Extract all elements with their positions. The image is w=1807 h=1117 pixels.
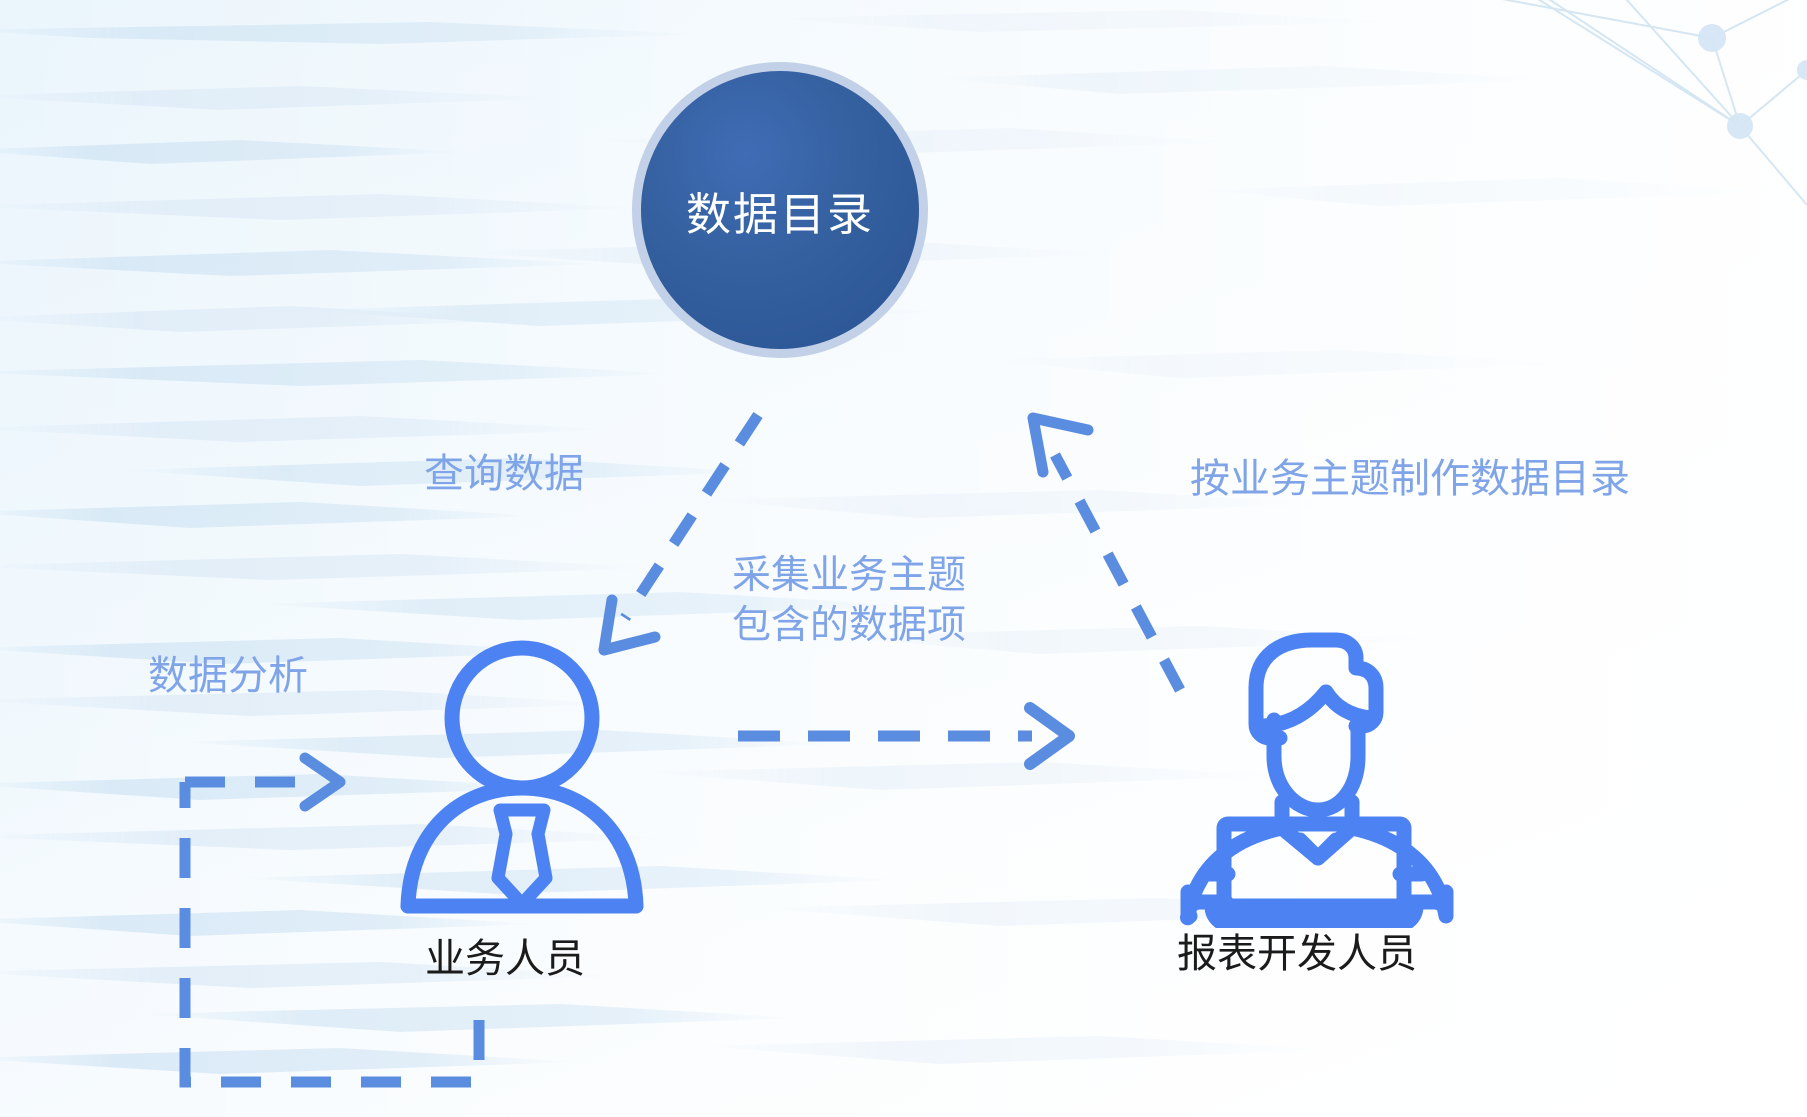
business-person-icon[interactable] [388,638,656,914]
edge-label-collect-items: 采集业务主题 包含的数据项 [732,551,966,651]
caption-business-person: 业务人员 [425,926,585,984]
edge-label-collect-line1: 采集业务主题 [732,551,966,601]
edge-label-query-data: 查询数据 [424,449,584,500]
caption-report-developer: 报表开发人员 [1177,921,1417,979]
edge-label-data-analysis: 数据分析 [148,651,308,702]
data-catalog-circle[interactable]: 数据目录 [632,62,928,358]
edge-label-collect-line2: 包含的数据项 [732,601,966,651]
hub-label: 数据目录 [686,178,874,243]
report-developer-laptop-icon[interactable] [1160,616,1468,928]
diagram-canvas: 数据目录 查询数据 按业务主题制作数据目录 采集业务主题 包含的数据项 数据分析 [0,0,1807,1117]
nodes-layer: 数据目录 查询数据 按业务主题制作数据目录 采集业务主题 包含的数据项 数据分析 [0,0,1807,1117]
edge-label-build-catalog: 按业务主题制作数据目录 [1190,454,1630,505]
